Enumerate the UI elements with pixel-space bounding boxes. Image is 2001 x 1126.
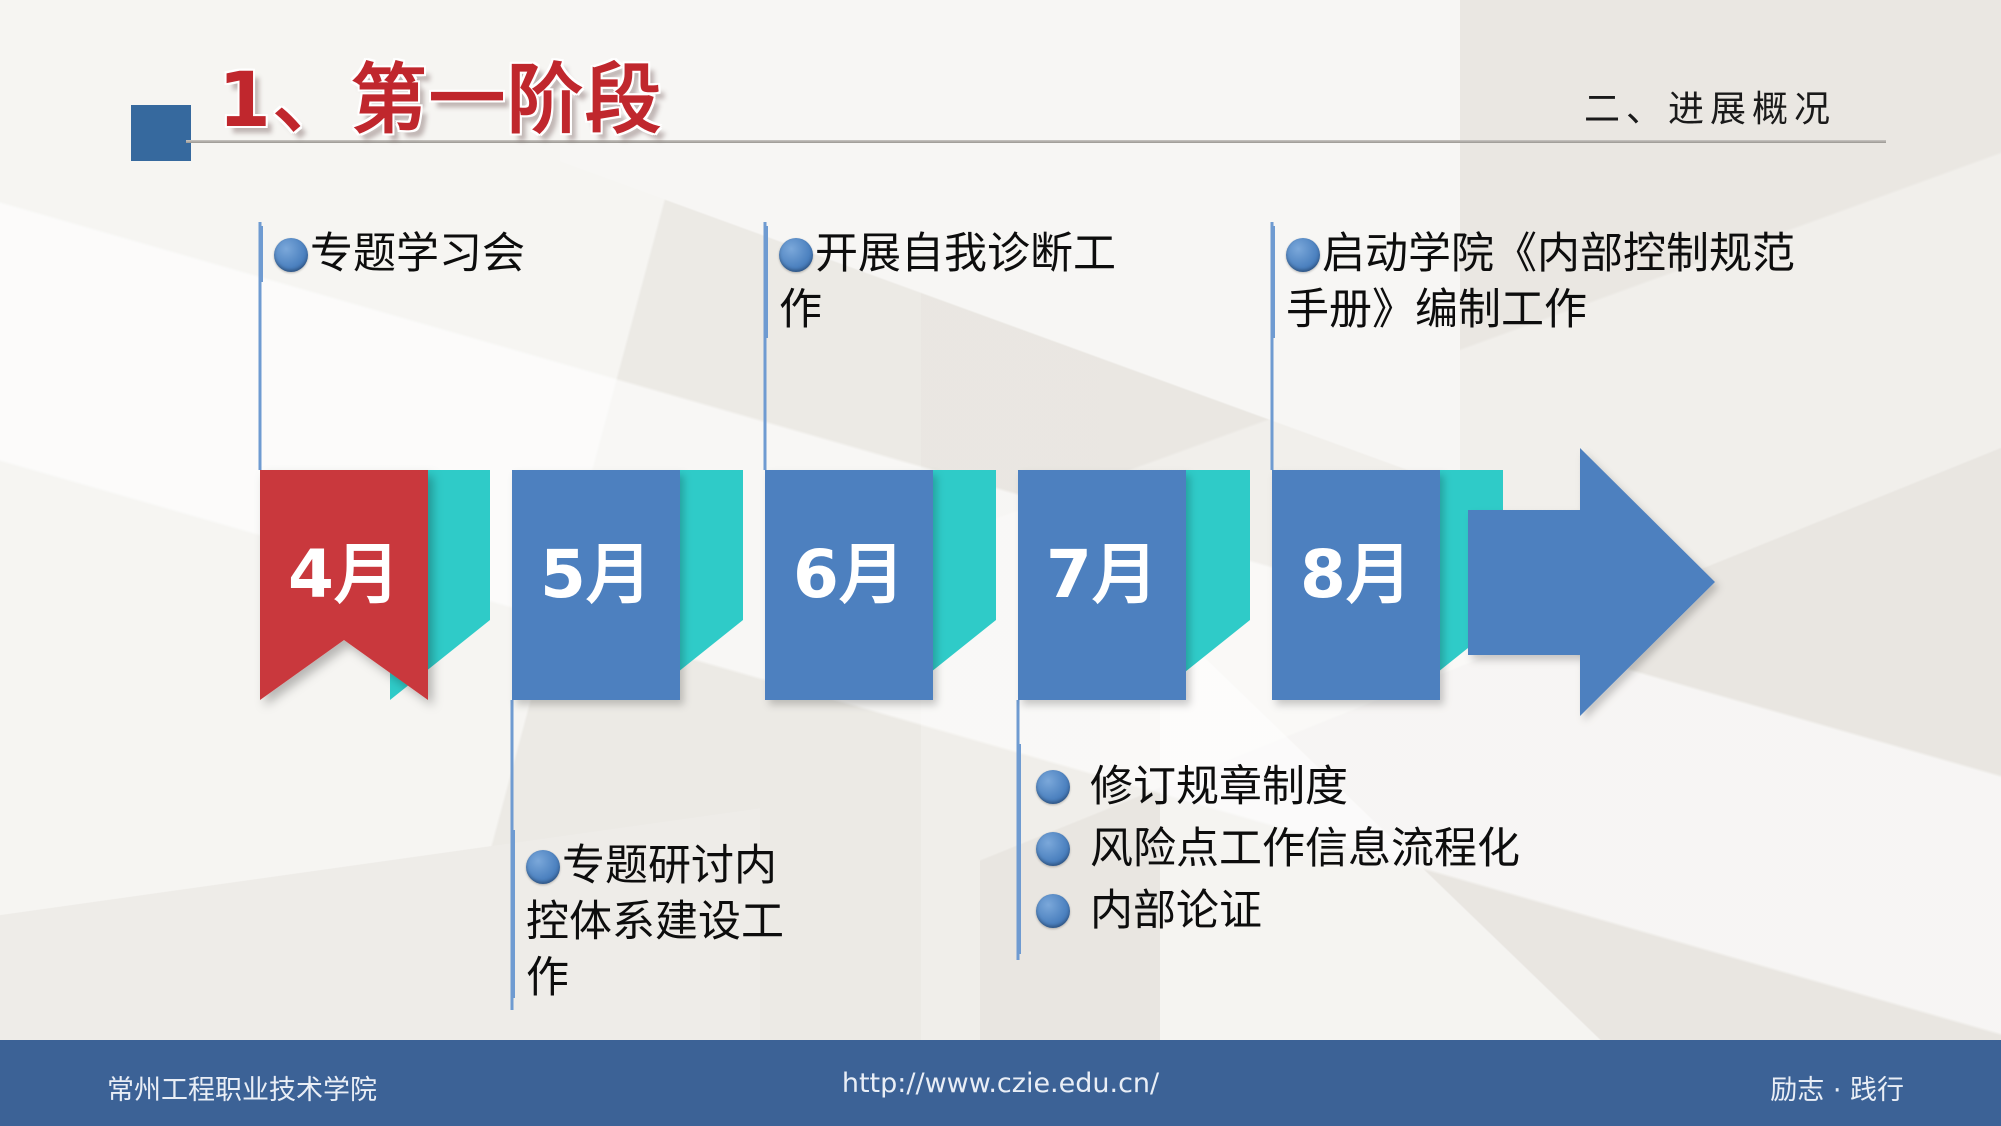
bullet-icon <box>1036 832 1070 866</box>
month-label-apr: 4月 <box>288 536 400 613</box>
callout-jul-item-3: 内部论证 <box>1090 890 1262 933</box>
bullet-icon <box>274 238 308 272</box>
footer-motto: 励志 · 践行 <box>1770 1068 1904 1107</box>
section-breadcrumb: 二、进展概况 <box>1584 80 1836 132</box>
callout-rule <box>765 226 768 338</box>
callout-rule <box>260 226 263 282</box>
month-shape-jun <box>765 470 933 700</box>
month-shape-may <box>512 470 680 700</box>
timeline-connectors <box>390 470 1503 700</box>
callout-jul-item-1: 修订规章制度 <box>1090 766 1348 809</box>
callout-rule <box>512 830 515 998</box>
callout-aug-line-2: 手册》编制工作 <box>1286 282 1795 338</box>
callout-rule <box>1018 744 1021 954</box>
timeline-end-arrow <box>1468 448 1715 716</box>
month-label-jul: 7月 <box>1046 536 1158 613</box>
month-label-jun: 6月 <box>793 536 905 613</box>
list-item: 修订规章制度 <box>1036 756 1520 818</box>
callout-apr-line-1: 专题学习会 <box>274 226 525 282</box>
callout-may-line-2: 控体系建设工 <box>526 894 784 950</box>
list-item: 风险点工作信息流程化 <box>1036 818 1520 880</box>
callout-may-line-3: 作 <box>526 950 784 1006</box>
callout-jun-line-2: 作 <box>779 282 1116 338</box>
callout-aug-line-1: 启动学院《内部控制规范 <box>1286 226 1795 282</box>
month-shape-aug <box>1272 470 1440 700</box>
callout-may-line-1: 专题研讨内 <box>526 838 784 894</box>
callout-jul-item-2: 风险点工作信息流程化 <box>1090 828 1520 871</box>
timeline-graphic: 4月 5月 6月 7月 8月 <box>0 0 2001 1126</box>
callout-rule <box>1272 226 1275 338</box>
month-shape-apr <box>260 470 428 700</box>
background-pattern <box>0 0 2001 1126</box>
month-label-may: 5月 <box>540 536 652 613</box>
bullet-icon <box>1036 894 1070 928</box>
title-accent-square <box>131 105 191 161</box>
bullet-icon <box>1286 238 1320 272</box>
slide-footer: 常州工程职业技术学院 http://www.czie.edu.cn/ 励志 · … <box>0 1040 2001 1126</box>
callout-jun-line-1: 开展自我诊断工 <box>779 226 1116 282</box>
month-shape-jul <box>1018 470 1186 700</box>
month-label-aug: 8月 <box>1300 536 1412 613</box>
list-item: 内部论证 <box>1036 880 1520 942</box>
footer-organization: 常州工程职业技术学院 <box>107 1068 377 1107</box>
bullet-icon <box>526 850 560 884</box>
page-title: 1、第一阶段 <box>218 38 663 148</box>
bullet-icon <box>1036 770 1070 804</box>
footer-url[interactable]: http://www.czie.edu.cn/ <box>842 1068 1159 1099</box>
bullet-icon <box>779 238 813 272</box>
slide-canvas: 1、第一阶段 二、进展概况 <box>0 0 2001 1126</box>
